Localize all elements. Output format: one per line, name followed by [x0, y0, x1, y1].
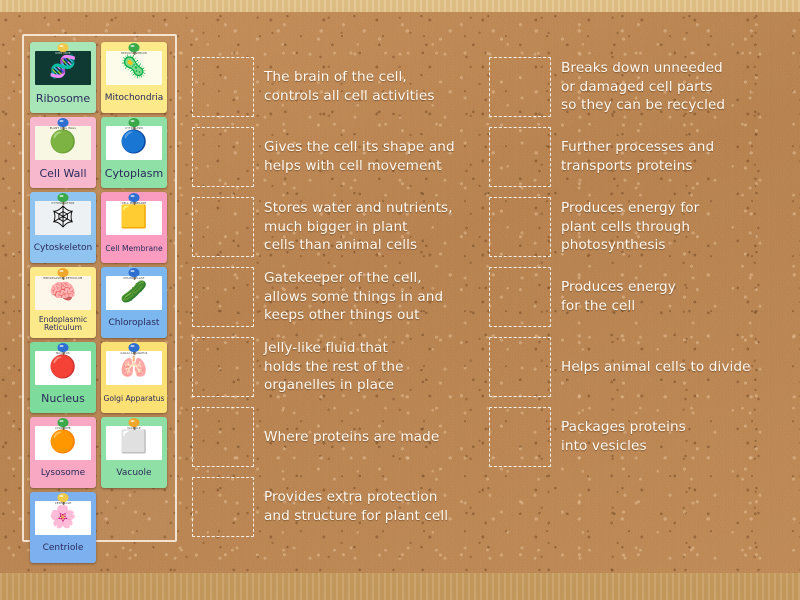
answer-drop-zone[interactable] [489, 407, 551, 467]
definition-row: The brain of the cell, controls all cell… [192, 57, 435, 117]
definition-row: Packages proteins into vesicles [489, 407, 686, 467]
organelle-diagram-image: Centriole🌸 [35, 501, 91, 535]
organelle-diagram-image: Ribosome🧬 [35, 51, 91, 85]
organelle-card[interactable]: Nucleus🔴Nucleus [30, 342, 96, 413]
organelle-diagram-image: Vacuole⬜ [106, 426, 162, 460]
definition-text: Packages proteins into vesicles [561, 418, 686, 456]
definition-text: Jelly-like fluid that holds the rest of … [264, 339, 404, 395]
answer-drop-zone[interactable] [192, 267, 254, 327]
pushpin-icon [58, 268, 69, 280]
answer-drop-zone[interactable] [192, 407, 254, 467]
organelle-illustration-icon: 🦠 [120, 57, 147, 79]
organelle-card-label: Cytoskeleton [30, 235, 96, 263]
definition-row: Further processes and transports protein… [489, 127, 714, 187]
organelle-illustration-icon: 🟠 [49, 432, 76, 454]
answer-drop-zone[interactable] [192, 197, 254, 257]
organelle-card[interactable]: Plant Cell Wall🟢Cell Wall [30, 117, 96, 188]
pushpin-icon [129, 268, 140, 280]
definition-text: Where proteins are made [264, 428, 439, 447]
definition-text: Produces energy for plant cells through … [561, 199, 699, 255]
organelle-card[interactable]: Chloroplast🥒Chloroplast [101, 267, 167, 338]
organelle-card-label: Mitochondria [101, 85, 167, 113]
definition-text: Provides extra protection and structure … [264, 488, 448, 526]
definition-row: Provides extra protection and structure … [192, 477, 448, 537]
pushpin-icon [58, 418, 69, 430]
pushpin-icon [129, 118, 140, 130]
organelle-card-grid: Ribosome🧬RibosomeMitochondrion🦠Mitochond… [30, 42, 173, 563]
organelle-illustration-icon: 🕸 [49, 207, 77, 229]
answer-drop-zone[interactable] [192, 477, 254, 537]
organelle-card[interactable]: Endoplasmic Reticulum🧠Endoplasmic Reticu… [30, 267, 96, 338]
pushpin-icon [129, 193, 140, 205]
pushpin-icon [58, 343, 69, 355]
organelle-diagram-image: Chloroplast🥒 [106, 276, 162, 310]
definition-text: Helps animal cells to divide [561, 358, 751, 377]
organelle-card[interactable]: Centriole🌸Centriole [30, 492, 96, 563]
organelle-card[interactable]: Ribosome🧬Ribosome [30, 42, 96, 113]
definition-row: Helps animal cells to divide [489, 337, 751, 397]
organelle-card-label: Lysosome [30, 460, 96, 488]
organelle-card-label: Centriole [30, 535, 96, 563]
organelle-card[interactable]: Golgi Apparatus🫁Golgi Apparatus [101, 342, 167, 413]
organelle-card-label: Vacuole [101, 460, 167, 488]
organelle-diagram-image: Golgi Apparatus🫁 [106, 351, 162, 385]
organelle-card-label: Nucleus [30, 385, 96, 413]
answer-drop-zone[interactable] [192, 337, 254, 397]
definition-text: Produces energy for the cell [561, 278, 676, 316]
organelle-card-tray: Ribosome🧬RibosomeMitochondrion🦠Mitochond… [22, 34, 177, 542]
organelle-illustration-icon: 🌸 [49, 507, 76, 529]
definition-text: Gives the cell its shape and helps with … [264, 138, 455, 176]
answer-drop-zone[interactable] [489, 197, 551, 257]
organelle-card[interactable]: Cytoplasm🔵Cytoplasm [101, 117, 167, 188]
organelle-illustration-icon: 🔴 [49, 357, 76, 379]
definition-row: Produces energy for the cell [489, 267, 676, 327]
definition-text: The brain of the cell, controls all cell… [264, 68, 435, 106]
pushpin-icon [58, 43, 69, 55]
definition-row: Breaks down unneeded or damaged cell par… [489, 57, 725, 117]
organelle-card-label: Ribosome [30, 85, 96, 113]
pushpin-icon [129, 343, 140, 355]
definition-row: Gives the cell its shape and helps with … [192, 127, 455, 187]
organelle-card-label: Cell Wall [30, 160, 96, 188]
definition-row: Jelly-like fluid that holds the rest of … [192, 337, 404, 397]
answer-drop-zone[interactable] [192, 127, 254, 187]
pushpin-icon [58, 493, 69, 505]
organelle-diagram-image: Endoplasmic Reticulum🧠 [35, 276, 91, 310]
pushpin-icon [58, 118, 69, 130]
organelle-card[interactable]: Lysosome🟠Lysosome [30, 417, 96, 488]
definition-text: Stores water and nutrients, much bigger … [264, 199, 453, 255]
answer-drop-zone[interactable] [489, 267, 551, 327]
organelle-card-label: Cytoplasm [101, 160, 167, 188]
organelle-card[interactable]: Mitochondrion🦠Mitochondria [101, 42, 167, 113]
definition-text: Further processes and transports protein… [561, 138, 714, 176]
organelle-diagram-image: Mitochondrion🦠 [106, 51, 162, 85]
organelle-illustration-icon: ⬜ [120, 432, 147, 454]
organelle-illustration-icon: 🥒 [120, 282, 147, 304]
definition-text: Breaks down unneeded or damaged cell par… [561, 59, 725, 115]
answer-drop-zone[interactable] [192, 57, 254, 117]
corkboard-frame: Ribosome🧬RibosomeMitochondrion🦠Mitochond… [0, 0, 800, 600]
organelle-card-label: Endoplasmic Reticulum [30, 310, 96, 338]
answer-drop-zone[interactable] [489, 57, 551, 117]
organelle-diagram-image: Plant Cell Wall🟢 [35, 126, 91, 160]
pushpin-icon [58, 193, 69, 205]
answer-drop-zone[interactable] [489, 337, 551, 397]
organelle-illustration-icon: 🟨 [120, 207, 147, 229]
definition-row: Gatekeeper of the cell, allows some thin… [192, 267, 443, 327]
organelle-card-label: Cell Membrane [101, 235, 167, 263]
organelle-illustration-icon: 🧠 [49, 282, 76, 304]
organelle-diagram-image: Lysosome🟠 [35, 426, 91, 460]
pushpin-icon [129, 418, 140, 430]
organelle-illustration-icon: 🫁 [120, 357, 147, 379]
organelle-diagram-image: Cytoskeleton🕸 [35, 201, 91, 235]
organelle-diagram-image: Nucleus🔴 [35, 351, 91, 385]
organelle-diagram-image: Cell Membrane🟨 [106, 201, 162, 235]
organelle-card[interactable]: Vacuole⬜Vacuole [101, 417, 167, 488]
organelle-card[interactable]: Cell Membrane🟨Cell Membrane [101, 192, 167, 263]
organelle-card[interactable]: Cytoskeleton🕸Cytoskeleton [30, 192, 96, 263]
organelle-illustration-icon: 🔵 [120, 132, 147, 154]
definition-row: Where proteins are made [192, 407, 439, 467]
organelle-diagram-image: Cytoplasm🔵 [106, 126, 162, 160]
definition-row: Stores water and nutrients, much bigger … [192, 197, 453, 257]
answer-drop-zone[interactable] [489, 127, 551, 187]
definition-text: Gatekeeper of the cell, allows some thin… [264, 269, 443, 325]
pushpin-icon [129, 43, 140, 55]
organelle-illustration-icon: 🧬 [49, 57, 76, 79]
organelle-card-label: Golgi Apparatus [101, 385, 167, 413]
organelle-card-label: Chloroplast [101, 310, 167, 338]
definition-row: Produces energy for plant cells through … [489, 197, 699, 257]
organelle-illustration-icon: 🟢 [49, 132, 76, 154]
